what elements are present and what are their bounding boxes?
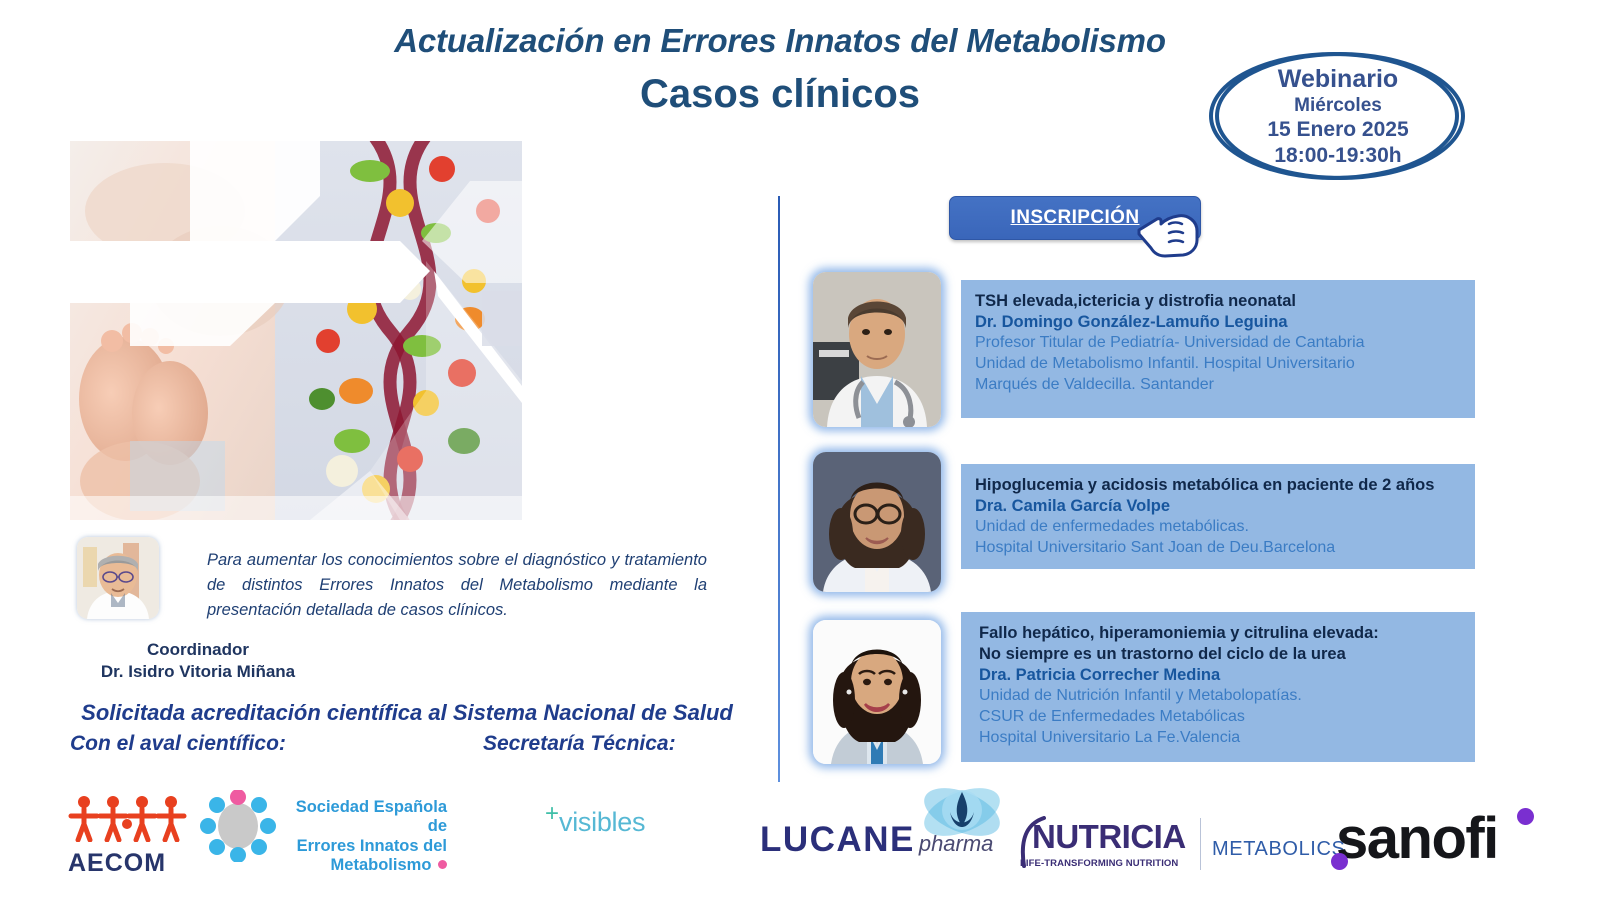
aval-label: Con el aval científico: bbox=[70, 732, 286, 756]
badge-line-webinario: Webinario bbox=[1278, 64, 1398, 95]
webinar-poster: Actualización en Errores Innatos del Met… bbox=[0, 0, 1600, 903]
date-badge: Webinario Miércoles 15 Enero 2025 18:00-… bbox=[1208, 46, 1468, 186]
speaker-2-title: Hipoglucemia y acidosis metabólica en pa… bbox=[975, 475, 1475, 496]
logo-sanofi: sanofi bbox=[1336, 805, 1556, 879]
logo-aecom: AECOM bbox=[68, 794, 188, 864]
seeim-dots-icon bbox=[200, 790, 276, 862]
speaker-1-affiliation-1: Profesor Titular de Pediatría- Universid… bbox=[975, 333, 1475, 354]
speaker-3-avatar bbox=[813, 620, 941, 764]
nutricia-divider bbox=[1200, 818, 1201, 870]
speaker-2-panel: Hipoglucemia y acidosis metabólica en pa… bbox=[961, 464, 1475, 569]
coordinator-name: Dr. Isidro Vitoria Miñana bbox=[62, 662, 334, 682]
seeim-line-2: Errores Innatos del bbox=[282, 837, 447, 856]
coordinator-avatar bbox=[77, 537, 159, 619]
lucane-flame-icon bbox=[920, 782, 1004, 846]
speaker-1-name: Dr. Domingo González-Lamuño Leguina bbox=[975, 312, 1475, 333]
speaker-3-affiliation-2: CSUR de Enfermedades Metabólicas bbox=[979, 707, 1475, 728]
sanofi-dot-right-icon bbox=[1517, 808, 1534, 825]
visibles-wordmark: visibles bbox=[559, 807, 645, 837]
speaker-2-affiliation-2: Hospital Universitario Sant Joan de Deu.… bbox=[975, 538, 1475, 559]
logo-nutricia: NUTRICIA LIFE-TRANSFORMING NUTRITION bbox=[1018, 818, 1218, 878]
speaker-3-panel: Fallo hepático, hiperamoniemia y citruli… bbox=[961, 612, 1475, 762]
secretaria-tecnica-label: Secretaría Técnica: bbox=[483, 732, 676, 756]
badge-line-date: 15 Enero 2025 bbox=[1267, 117, 1408, 143]
coordinator-role-label: Coordinador bbox=[78, 640, 318, 660]
seeim-line-3: Metabolismo bbox=[331, 856, 432, 874]
logo-lucane: LUCANEpharma bbox=[760, 820, 1020, 880]
speaker-1-avatar bbox=[813, 272, 941, 427]
speaker-1-affiliation-3: Marqués de Valdecilla. Santander bbox=[975, 375, 1475, 396]
nutricia-tagline: LIFE-TRANSFORMING NUTRITION bbox=[1020, 858, 1178, 869]
speaker-3-affiliation-3: Hospital Universitario La Fe.Valencia bbox=[979, 728, 1475, 749]
coordinator-description: Para aumentar los conocimientos sobre el… bbox=[207, 548, 707, 623]
speaker-3-affiliation-1: Unidad de Nutrición Infantil y Metabolop… bbox=[979, 686, 1475, 707]
speaker-3-name: Dra. Patricia Correcher Medina bbox=[979, 665, 1475, 686]
speaker-1-affiliation-2: Unidad de Metabolismo Infantil. Hospital… bbox=[975, 354, 1475, 375]
pointing-hand-icon bbox=[1135, 200, 1205, 258]
speaker-1-panel: TSH elevada,ictericia y distrofia neonat… bbox=[961, 280, 1475, 418]
accreditation-text: Solicitada acreditación científica al Si… bbox=[62, 700, 752, 726]
seeim-pink-dot-icon bbox=[438, 860, 447, 869]
hero-collage-image bbox=[70, 141, 522, 520]
sanofi-wordmark: sanofi bbox=[1336, 806, 1498, 871]
speaker-1-title: TSH elevada,ictericia y distrofia neonat… bbox=[975, 291, 1475, 312]
aecom-figures-icon bbox=[68, 794, 188, 842]
speaker-2-affiliation-1: Unidad de enfermedades metabólicas. bbox=[975, 517, 1475, 538]
speaker-3-title-line2: No siempre es un trastorno del ciclo de … bbox=[979, 644, 1475, 665]
sanofi-dot-left-icon bbox=[1331, 853, 1348, 870]
badge-line-weekday: Miércoles bbox=[1294, 94, 1382, 117]
lucane-wordmark: LUCANE bbox=[760, 820, 915, 859]
speaker-2-avatar bbox=[813, 452, 941, 592]
speaker-2-name: Dra. Camila García Volpe bbox=[975, 496, 1475, 517]
badge-line-time: 18:00-19:30h bbox=[1274, 143, 1401, 169]
aecom-wordmark: AECOM bbox=[68, 849, 188, 878]
visibles-plus-icon: + bbox=[545, 800, 559, 827]
logo-visibles: +visibles bbox=[545, 800, 655, 844]
nutricia-wordmark: NUTRICIA bbox=[1032, 818, 1186, 856]
vertical-divider bbox=[778, 196, 780, 782]
logo-metabolics: METABOLICS bbox=[1212, 838, 1345, 861]
seeim-line-1: Sociedad Española de bbox=[282, 798, 447, 837]
registration-button-label: INSCRIPCIÓN bbox=[1011, 207, 1140, 229]
logo-seeim: Sociedad Española de Errores Innatos del… bbox=[200, 790, 450, 862]
speaker-3-title-line1: Fallo hepático, hiperamoniemia y citruli… bbox=[979, 623, 1475, 644]
